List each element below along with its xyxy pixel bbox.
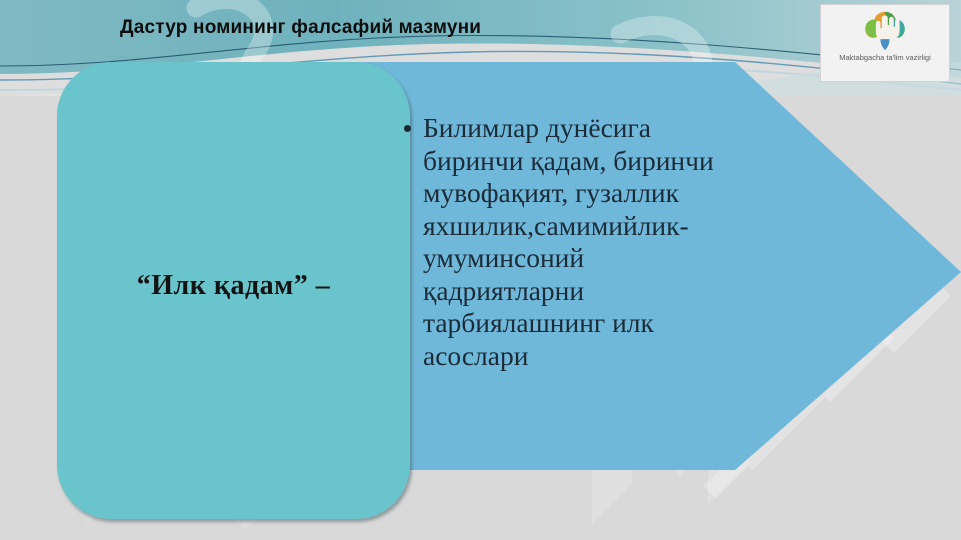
left-rounded-card: “Илк қадам” –: [57, 62, 410, 519]
bullet-text: Билимлар дунёсига биринчи қадам, биринчи…: [423, 112, 734, 373]
bullet-dot-icon: [404, 125, 411, 132]
logo-caption: Maktabgacha ta'lim vazirligi: [825, 53, 945, 62]
bullet-list-item: Билимлар дунёсига биринчи қадам, биринчи…: [404, 112, 734, 373]
slide-canvas: “Илк қадам” – Билимлар дунёсига биринчи …: [0, 0, 961, 540]
ministry-logo-card: Maktabgacha ta'lim vazirligi: [820, 4, 950, 82]
tree-hands-logo-icon: [862, 9, 908, 51]
page-title: Дастур номининг фалсафий мазмуни: [120, 17, 481, 39]
left-card-label: “Илк қадам” –: [57, 269, 410, 313]
